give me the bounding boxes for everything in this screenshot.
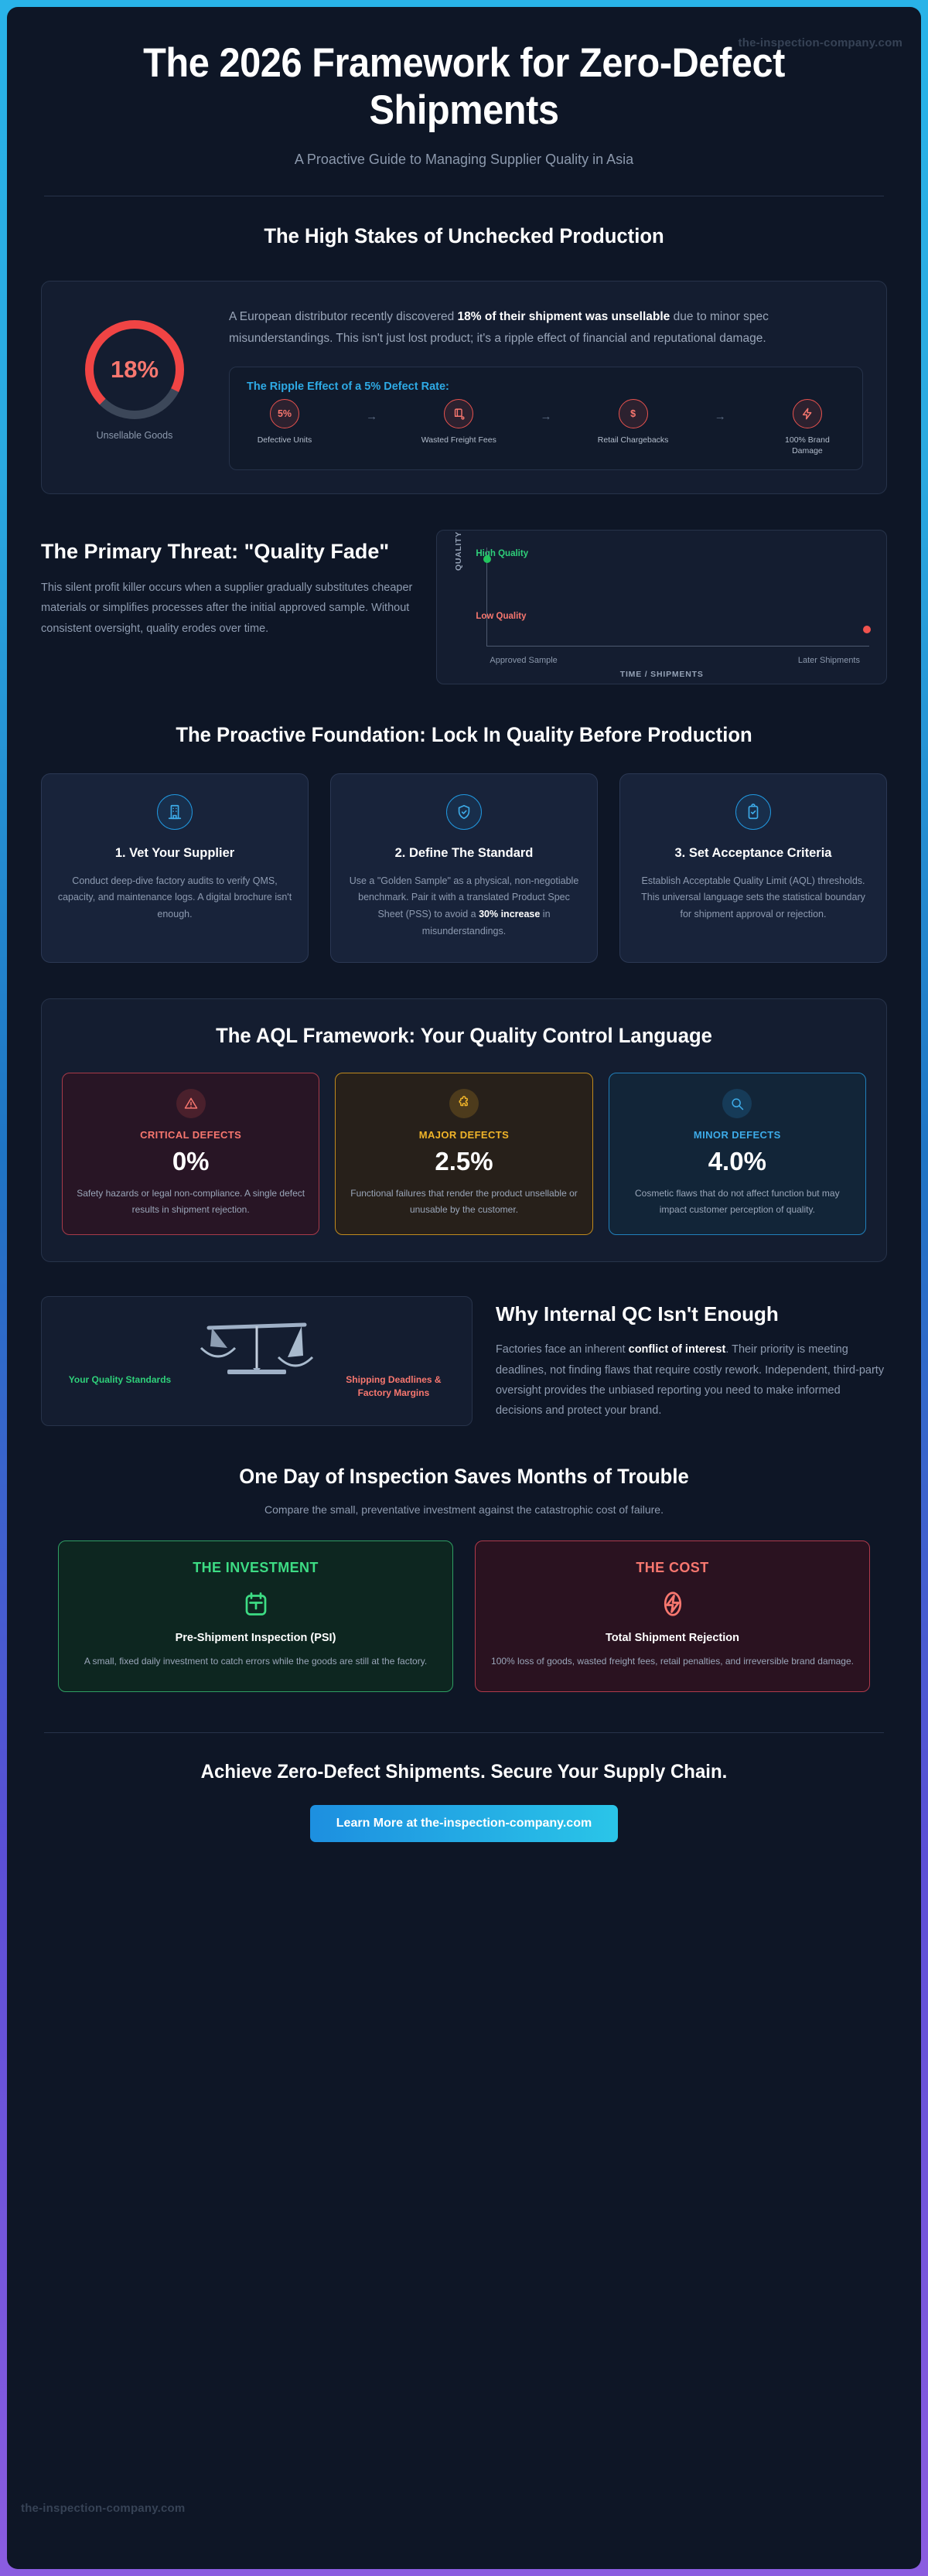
- comparison-card-investment: THE INVESTMENT Pre-Shipment Inspection (…: [58, 1540, 453, 1692]
- comparison-card-cost: THE COST Total Shipment Rejection 100% l…: [475, 1540, 870, 1692]
- foundation-card-acceptance-criteria: 3. Set Acceptance Criteria Establish Acc…: [619, 773, 887, 963]
- foundation-card-vet-supplier: 1. Vet Your Supplier Conduct deep-dive f…: [41, 773, 309, 963]
- scale-label-deadlines-margins: Shipping Deadlines & Factory Margins: [336, 1373, 452, 1400]
- chart-plot-area: [486, 548, 869, 647]
- internal-qc-body: Factories face an inherent conflict of i…: [496, 1339, 887, 1421]
- quality-fade-title: The Primary Threat: "Quality Fade": [41, 539, 413, 565]
- foundation-card-title: 1. Vet Your Supplier: [57, 845, 292, 862]
- calendar-check-icon: [242, 1590, 270, 1618]
- watermark-bottom-left: the-inspection-company.com: [21, 2502, 185, 2515]
- clipboard-check-icon: [735, 794, 771, 830]
- arrow-right-icon: →: [540, 399, 551, 423]
- aql-card-desc: Cosmetic flaws that do not affect functi…: [622, 1186, 853, 1217]
- chart-point-later-shipments: [863, 626, 871, 633]
- comparison-title: One Day of Inspection Saves Months of Tr…: [62, 1463, 865, 1490]
- chart-x-tick-labels: Approved Sample Later Shipments: [490, 656, 860, 665]
- puzzle-piece-icon: [449, 1089, 479, 1118]
- high-stakes-body: A European distributor recently discover…: [229, 303, 863, 470]
- aql-card-desc: Safety hazards or legal non-compliance. …: [75, 1186, 306, 1217]
- magnifier-icon: [722, 1089, 752, 1118]
- broken-shipment-icon: [659, 1590, 687, 1618]
- chart-x-tick: Later Shipments: [798, 656, 860, 665]
- high-stakes-paragraph: A European distributor recently discover…: [229, 306, 863, 350]
- aql-card-value: 4.0%: [622, 1147, 853, 1176]
- chart-y-axis-label: QUALITY: [454, 531, 463, 571]
- ripple-step: $ Retail Chargebacks: [595, 399, 671, 446]
- ripple-step-label: Wasted Freight Fees: [421, 435, 496, 446]
- donut-column: 18% Unsellable Goods: [62, 303, 207, 441]
- ripple-step-label: Defective Units: [258, 435, 312, 446]
- footer-headline: Achieve Zero-Defect Shipments. Secure Yo…: [55, 1761, 873, 1783]
- aql-card-label: MINOR DEFECTS: [622, 1129, 853, 1141]
- shield-check-icon: [446, 794, 482, 830]
- infographic-canvas: the-inspection-company.com the-inspectio…: [7, 7, 921, 2569]
- page-header: The 2026 Framework for Zero-Defect Shipm…: [7, 7, 921, 168]
- warning-triangle-icon: [176, 1089, 206, 1118]
- comparison-card-desc: 100% loss of goods, wasted freight fees,…: [491, 1653, 854, 1670]
- ripple-step: Wasted Freight Fees: [421, 399, 496, 446]
- dollar-icon: $: [619, 399, 648, 428]
- comparison-card-head: THE COST: [491, 1560, 854, 1576]
- balance-scale-panel: Your Quality Standards Shipping Deadline…: [41, 1296, 473, 1426]
- comparison-section: One Day of Inspection Saves Months of Tr…: [7, 1426, 921, 1691]
- aql-card-label: CRITICAL DEFECTS: [75, 1129, 306, 1141]
- arrow-right-icon: →: [366, 399, 377, 423]
- ripple-step: 5% Defective Units: [247, 399, 322, 446]
- aql-section: The AQL Framework: Your Quality Control …: [7, 963, 921, 1262]
- chart-x-axis-label: TIME / SHIPMENTS: [449, 670, 874, 679]
- comparison-card-title: Total Shipment Rejection: [491, 1632, 854, 1644]
- comparison-subtitle: Compare the small, preventative investme…: [41, 1503, 887, 1516]
- quality-fade-chart: QUALITY High Quality Low Quality Approve…: [436, 530, 887, 684]
- unsellable-donut-chart: 18%: [85, 320, 184, 419]
- chart-x-tick: Approved Sample: [490, 656, 557, 665]
- high-stakes-panel: 18% Unsellable Goods A European distribu…: [41, 281, 887, 494]
- comparison-card-head: THE INVESTMENT: [74, 1560, 437, 1576]
- aql-card-label: MAJOR DEFECTS: [348, 1129, 579, 1141]
- ripple-step: 100% Brand Damage: [769, 399, 845, 456]
- aql-card-minor: MINOR DEFECTS 4.0% Cosmetic flaws that d…: [609, 1073, 866, 1235]
- foundation-card-define-standard: 2. Define The Standard Use a "Golden Sam…: [330, 773, 598, 963]
- aql-card-critical: CRITICAL DEFECTS 0% Safety hazards or le…: [62, 1073, 319, 1235]
- foundation-card-body: Conduct deep-dive factory audits to veri…: [57, 873, 292, 924]
- percent-badge-icon: 5%: [270, 399, 299, 428]
- high-stakes-title: The High Stakes of Unchecked Production: [30, 223, 899, 250]
- ripple-title: The Ripple Effect of a 5% Defect Rate:: [247, 380, 845, 393]
- donut-value: 18%: [111, 356, 159, 384]
- lightning-bolt-icon: [793, 399, 822, 428]
- foundation-card-body: Use a "Golden Sample" as a physical, non…: [346, 873, 582, 941]
- internal-qc-title: Why Internal QC Isn't Enough: [496, 1302, 887, 1327]
- infographic-page: the-inspection-company.com the-inspectio…: [0, 0, 928, 2576]
- donut-label: Unsellable Goods: [97, 430, 173, 441]
- internal-qc-section: Your Quality Standards Shipping Deadline…: [7, 1262, 921, 1426]
- foundation-card-body: Establish Acceptable Quality Limit (AQL)…: [636, 873, 871, 924]
- aql-card-desc: Functional failures that render the prod…: [348, 1186, 579, 1217]
- quality-fade-section: The Primary Threat: "Quality Fade" This …: [7, 494, 921, 684]
- scale-label-quality-standards: Your Quality Standards: [62, 1373, 178, 1400]
- ripple-steps: 5% Defective Units →: [247, 399, 845, 456]
- foundation-card-title: 3. Set Acceptance Criteria: [636, 845, 871, 862]
- foundation-card-title: 2. Define The Standard: [346, 845, 582, 862]
- page-title: The 2026 Framework for Zero-Defect Shipm…: [86, 39, 841, 135]
- high-stakes-section: The High Stakes of Unchecked Production …: [7, 196, 921, 494]
- footer-section: Achieve Zero-Defect Shipments. Secure Yo…: [7, 1733, 921, 1842]
- aql-title: The AQL Framework: Your Quality Control …: [82, 1022, 846, 1049]
- freight-dolly-icon: [444, 399, 473, 428]
- page-subtitle: A Proactive Guide to Managing Supplier Q…: [53, 152, 875, 168]
- aql-card-major: MAJOR DEFECTS 2.5% Functional failures t…: [335, 1073, 592, 1235]
- foundation-title: The Proactive Foundation: Lock In Qualit…: [62, 722, 865, 749]
- aql-card-value: 0%: [75, 1147, 306, 1176]
- comparison-card-title: Pre-Shipment Inspection (PSI): [74, 1632, 437, 1644]
- foundation-section: The Proactive Foundation: Lock In Qualit…: [7, 684, 921, 963]
- ripple-step-label: 100% Brand Damage: [769, 435, 845, 456]
- factory-building-icon: [157, 794, 193, 830]
- ripple-step-label: Retail Chargebacks: [598, 435, 669, 446]
- learn-more-cta-button[interactable]: Learn More at the-inspection-company.com: [310, 1805, 618, 1842]
- arrow-right-icon: →: [715, 399, 726, 423]
- aql-card-value: 2.5%: [348, 1147, 579, 1176]
- comparison-card-desc: A small, fixed daily investment to catch…: [74, 1653, 437, 1670]
- ripple-effect-box: The Ripple Effect of a 5% Defect Rate: 5…: [229, 367, 863, 469]
- quality-fade-body: This silent profit killer occurs when a …: [41, 578, 413, 640]
- chart-point-approved-sample: [483, 555, 491, 563]
